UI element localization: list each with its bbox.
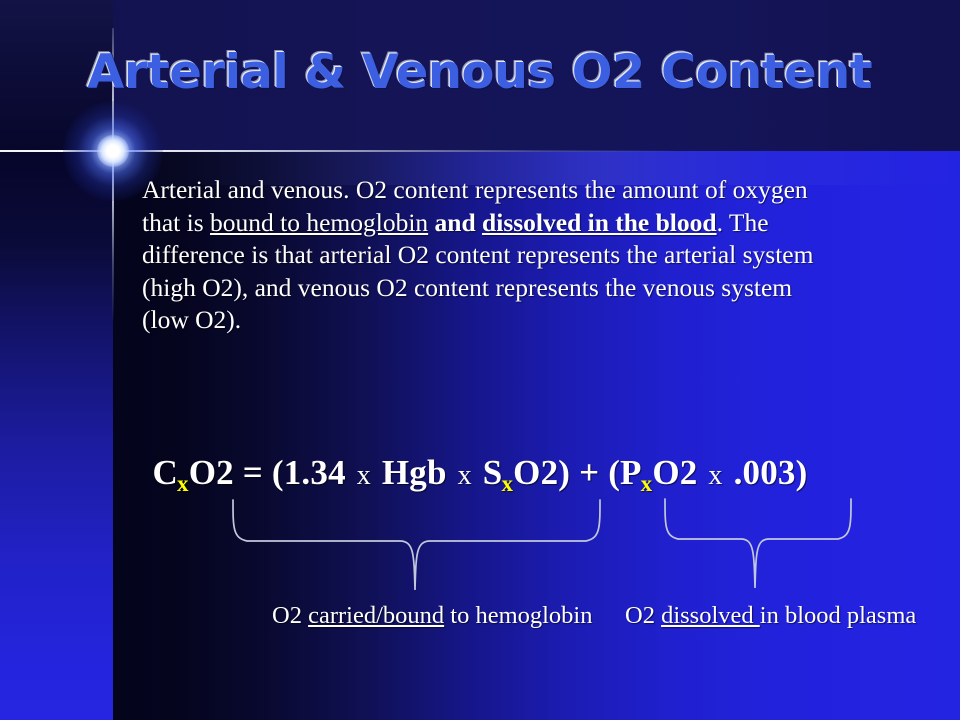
formula-multiply-1: x [355, 460, 373, 491]
body-paragraph: Arterial and venous. O2 content represen… [142, 174, 842, 337]
caption-left-underline: carried/bound [308, 602, 444, 629]
formula-o2-2: O2) + (P [513, 453, 641, 492]
formula-s: S [474, 453, 503, 492]
body-underline-bound-to-hemoglobin: bound to hemoglobin [210, 208, 428, 237]
body-bold-and: and [435, 208, 476, 237]
caption-left-post: to hemoglobin [444, 602, 592, 629]
formula-subscript-p: x [641, 471, 653, 496]
formula-subscript-c: x [177, 471, 189, 496]
caption-left-pre: O2 [272, 602, 308, 629]
caption-right-pre: O2 [625, 602, 661, 629]
caption-right-post: in blood plasma [760, 602, 917, 629]
formula-line: CxO2 = (1.34 x Hgb x SxO2) + (PxO2 x .00… [0, 452, 960, 505]
formula-multiply-2: x [456, 460, 474, 491]
caption-right: O2 dissolved in blood plasma [625, 600, 945, 631]
slide: Arterial & Venous O2 Content Arterial an… [0, 0, 960, 720]
formula-multiply-3: x [706, 460, 724, 491]
formula-c: C [153, 453, 178, 492]
caption-right-underline: dissolved [661, 602, 760, 629]
glow-bulb-core-icon [97, 135, 129, 167]
caption-left: O2 carried/bound to hemoglobin [272, 600, 612, 631]
formula-o2-3: O2 [652, 453, 706, 492]
formula-hgb: Hgb [373, 453, 456, 492]
formula-constant: .003) [725, 453, 808, 492]
formula-subscript-s: x [501, 471, 513, 496]
formula-o2-1: O2 = (1.34 [189, 453, 355, 492]
body-bold-underline-dissolved-in-the-blood: dissolved in the blood [482, 208, 717, 237]
